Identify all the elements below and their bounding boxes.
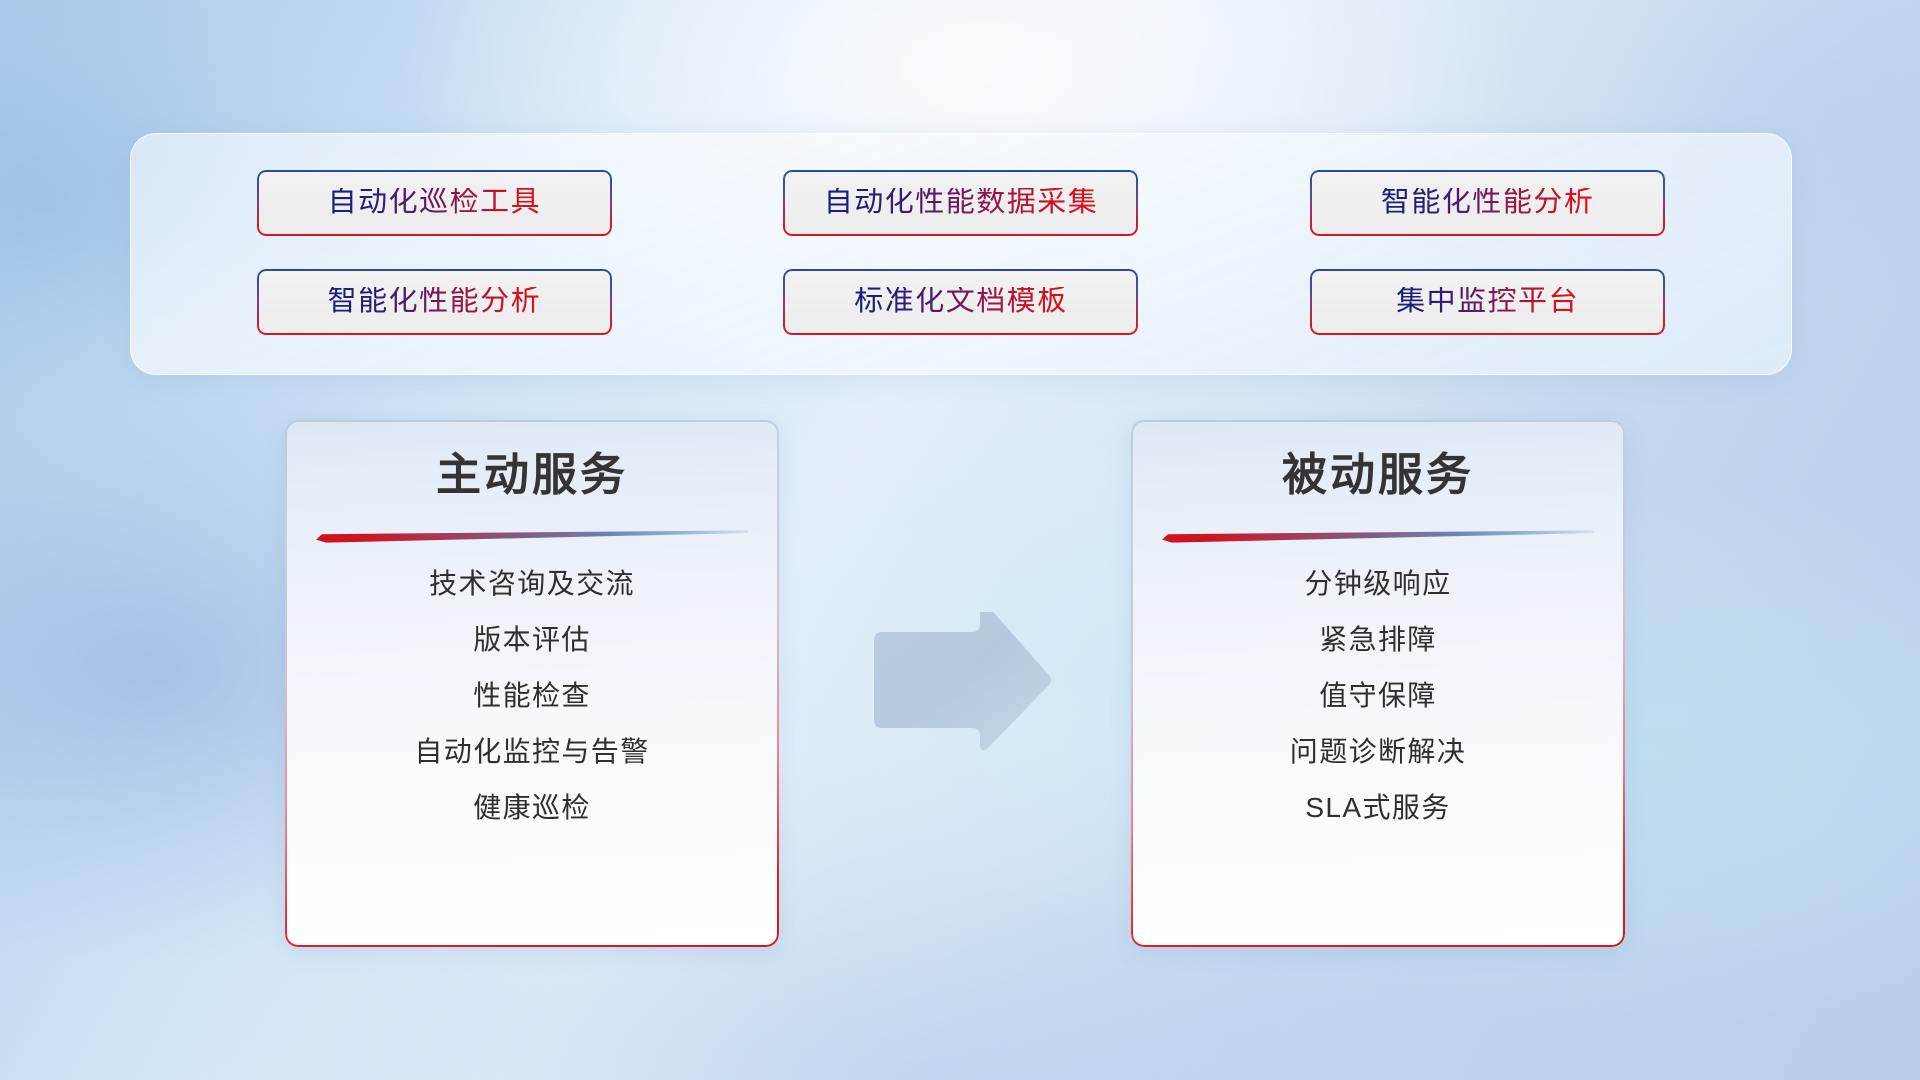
capability-item-1[interactable]: 自动化巡检工具: [257, 170, 612, 236]
list-item: 版本评估: [473, 622, 591, 657]
capability-grid: 自动化巡检工具 自动化性能数据采集 智能化性能分析 智能化性能分析 标准化文档模…: [131, 134, 1791, 374]
list-item: 问题诊断解决: [1290, 734, 1466, 769]
list-item: 分钟级响应: [1304, 566, 1451, 601]
service-card-list: 技术咨询及交流 版本评估 性能检查 自动化监控与告警 健康巡检: [285, 566, 779, 825]
list-item: 健康巡检: [473, 790, 591, 825]
slide-canvas: 自动化巡检工具 自动化性能数据采集 智能化性能分析 智能化性能分析 标准化文档模…: [0, 0, 1920, 1080]
capability-item-2[interactable]: 自动化性能数据采集: [783, 170, 1138, 236]
capability-item-3[interactable]: 智能化性能分析: [1310, 170, 1665, 236]
capability-item-label: 智能化性能分析: [1381, 188, 1595, 217]
service-card-title: 主动服务: [436, 451, 628, 500]
capability-item-label: 自动化巡检工具: [328, 188, 542, 217]
capability-item-label: 标准化文档模板: [854, 287, 1068, 316]
service-card-title: 被动服务: [1282, 451, 1474, 500]
card-divider: [1162, 530, 1594, 544]
service-card-list: 分钟级响应 紧急排障 值守保障 问题诊断解决 SLA式服务: [1131, 566, 1625, 825]
arrow-right-icon: [868, 612, 1058, 752]
capability-item-5[interactable]: 标准化文档模板: [783, 269, 1138, 335]
capability-item-6[interactable]: 集中监控平台: [1310, 269, 1665, 335]
list-item: 性能检查: [473, 678, 591, 713]
capability-item-label: 集中监控平台: [1396, 287, 1579, 316]
capability-panel: 自动化巡检工具 自动化性能数据采集 智能化性能分析 智能化性能分析 标准化文档模…: [130, 133, 1792, 375]
capability-item-label: 自动化性能数据采集: [824, 188, 1099, 217]
capability-item-label: 智能化性能分析: [328, 287, 542, 316]
card-divider: [316, 530, 748, 544]
service-card-inner: 主动服务: [285, 420, 779, 947]
list-item: 紧急排障: [1319, 622, 1437, 657]
service-card-active[interactable]: 主动服务: [285, 420, 779, 947]
service-card-passive[interactable]: 被动服务: [1131, 420, 1625, 947]
capability-item-4[interactable]: 智能化性能分析: [257, 269, 612, 335]
list-item: 技术咨询及交流: [429, 566, 635, 601]
list-item: 值守保障: [1319, 678, 1437, 713]
list-item: SLA式服务: [1305, 790, 1450, 825]
service-card-inner: 被动服务: [1131, 420, 1625, 947]
list-item: 自动化监控与告警: [414, 734, 649, 769]
